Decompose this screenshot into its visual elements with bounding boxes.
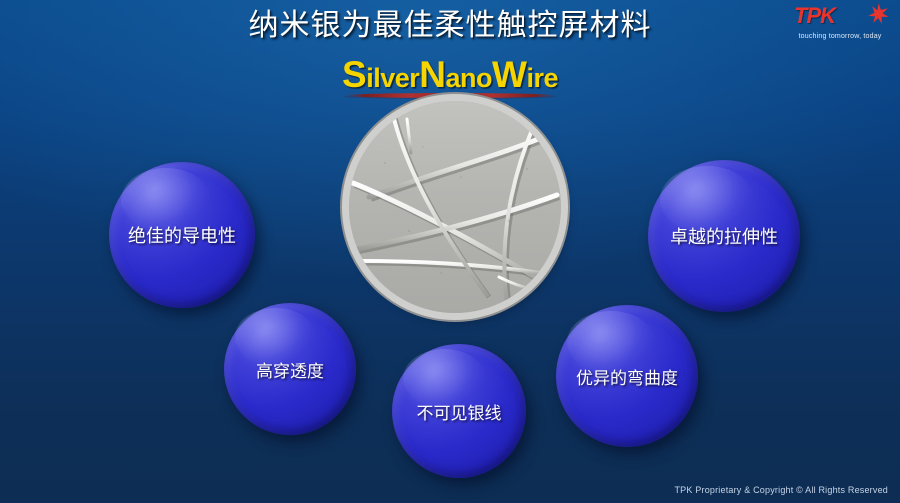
tpk-logo-mark: TPK	[788, 4, 892, 30]
page-title: 纳米银为最佳柔性触控屏材料	[0, 7, 900, 45]
slide-canvas: 纳米银为最佳柔性触控屏材料 SilverNanoWire TPK touchin…	[0, 0, 900, 503]
star-icon	[866, 2, 890, 26]
nanowire-sem-image	[349, 101, 561, 313]
nanowire-sem-graphic	[349, 101, 561, 313]
feature-bubble-bendability[interactable]: 优异的弯曲度	[556, 305, 698, 447]
feature-bubble-label: 卓越的拉伸性	[670, 223, 778, 249]
feature-bubble-label: 绝佳的导电性	[128, 222, 236, 248]
feature-bubble-label: 高穿透度	[256, 357, 324, 382]
wordmark-part-ilver: ilver	[366, 63, 419, 93]
feature-bubble-label: 优异的弯曲度	[576, 364, 678, 389]
tpk-brand-text: TPK	[794, 4, 835, 28]
wordmark-underline	[344, 93, 556, 98]
feature-bubble-invisible-wire[interactable]: 不可见银线	[392, 344, 526, 478]
wordmark-silvernanowire: SilverNanoWire	[342, 56, 558, 97]
wordmark-cap-w: W	[492, 54, 526, 95]
wordmark-cap-s: S	[342, 54, 366, 95]
wordmark-part-ano: ano	[445, 63, 492, 93]
tpk-logo: TPK touching tomorrow, today	[788, 4, 892, 48]
feature-bubble-transmittance[interactable]: 高穿透度	[224, 303, 356, 435]
tpk-tagline: touching tomorrow, today	[788, 32, 892, 41]
wordmark-part-ire: ire	[526, 63, 558, 93]
wordmark-cap-n: N	[419, 54, 445, 95]
footer-copyright: TPK Proprietary & Copyright © All Rights…	[674, 484, 888, 496]
feature-bubble-conductivity[interactable]: 绝佳的导电性	[109, 162, 255, 308]
wordmark-container: SilverNanoWire	[0, 56, 900, 100]
feature-bubble-label: 不可见银线	[417, 399, 502, 424]
feature-bubble-stretchability[interactable]: 卓越的拉伸性	[648, 160, 800, 312]
